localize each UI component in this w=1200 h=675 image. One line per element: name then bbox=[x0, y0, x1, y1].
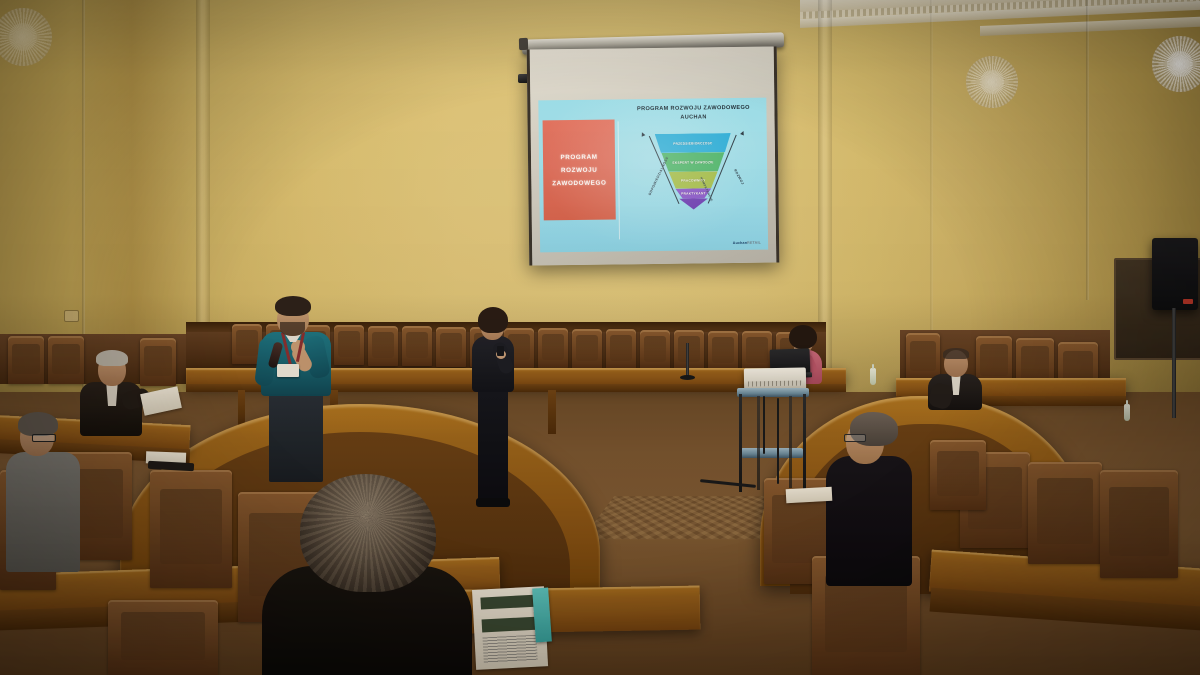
projected-slide: PROGRAM ROZWOJU ZAWODOWEGO PROGRAM ROZWO… bbox=[538, 98, 768, 253]
funnel-arrow-right-head bbox=[740, 130, 745, 135]
wall-seam bbox=[1086, 0, 1089, 300]
projection-screen: PROGRAM ROZWOJU ZAWODOWEGO PROGRAM ROZWO… bbox=[528, 36, 778, 271]
woman-standing-hair bbox=[478, 307, 508, 333]
projector-stand-leg bbox=[803, 394, 806, 490]
projector-stand-top-shelf bbox=[737, 388, 809, 397]
slide-title-line-1: PROGRAM ROZWOJU ZAWODOWEGO bbox=[622, 104, 764, 114]
person-left-front-torso bbox=[6, 452, 80, 572]
funnel-band-2: EKSPERT W ZAWODZIE bbox=[661, 152, 724, 172]
slide-red-panel: PROGRAM ROZWOJU ZAWODOWEGO bbox=[543, 119, 616, 220]
plaster-rosette-ornament bbox=[966, 56, 1018, 108]
water-bottle bbox=[870, 368, 876, 385]
projector-stand-leg bbox=[789, 396, 792, 488]
slide-red-line-3: ZAWODOWEGO bbox=[552, 179, 606, 187]
funnel-label-development: ROZWOJ bbox=[733, 168, 745, 185]
desk-microphone bbox=[686, 343, 689, 377]
presenter-badge bbox=[277, 364, 299, 377]
left-bench-chair bbox=[140, 338, 176, 386]
slide-title: PROGRAM ROZWOJU ZAWODOWEGO AUCHAN bbox=[622, 104, 764, 123]
conference-room-photo: PROGRAM ROZWOJU ZAWODOWEGO PROGRAM ROZWO… bbox=[0, 0, 1200, 675]
speaker-stand-pole bbox=[1172, 308, 1176, 418]
plaster-rosette-ornament bbox=[1152, 36, 1200, 92]
man-left-back-hair bbox=[96, 350, 128, 366]
person-left-front-hair bbox=[18, 412, 58, 436]
funnel-band-1: PRZEDSIEBIORCZOSC bbox=[655, 133, 731, 153]
person-center-front-hair-texture bbox=[300, 474, 436, 592]
pa-speaker bbox=[1152, 238, 1198, 310]
projector-stand-leg bbox=[757, 396, 760, 490]
woman-laptop-hair bbox=[789, 325, 817, 349]
woman-standing-phone bbox=[497, 346, 504, 356]
auchan-logo-sub: RETAIL bbox=[747, 241, 761, 245]
slide-title-line-2: AUCHAN bbox=[622, 112, 764, 122]
screen-surface: PROGRAM ROZWOJU ZAWODOWEGO PROGRAM ROZWO… bbox=[527, 46, 780, 265]
glasses-icon bbox=[32, 434, 56, 442]
screen-roller-cap bbox=[519, 38, 528, 50]
auchan-logo: AuchanRETAIL bbox=[733, 241, 761, 245]
desk-paper bbox=[786, 487, 833, 503]
slide-red-line-1: PROGRAM bbox=[560, 153, 597, 160]
wall-outlet bbox=[64, 310, 79, 322]
projector-stand-lower-shelf bbox=[741, 448, 803, 458]
projector-stand-leg bbox=[739, 394, 742, 492]
man-right-back-hair bbox=[943, 348, 969, 359]
auchan-logo-main: Auchan bbox=[733, 241, 747, 245]
slide-funnel-diagram: PRZEDSIEBIORCZOSC EKSPERT W ZAWODZIE PRA… bbox=[643, 129, 744, 212]
desk-microphone-base bbox=[680, 375, 695, 380]
right-bench-chair bbox=[906, 333, 940, 381]
woman-standing-shoes bbox=[476, 498, 510, 507]
person-right-front-torso bbox=[826, 456, 912, 586]
slide-divider bbox=[618, 121, 620, 239]
presenter-legs bbox=[269, 386, 323, 482]
funnel-tip bbox=[679, 198, 708, 209]
presenter-beard bbox=[280, 322, 305, 336]
presenter-hair bbox=[275, 296, 311, 316]
glasses-icon bbox=[844, 434, 866, 442]
projector-cable bbox=[777, 398, 779, 484]
projector-cable bbox=[763, 396, 765, 454]
water-bottle bbox=[1124, 404, 1130, 421]
woman-standing-legs bbox=[478, 384, 508, 502]
funnel-band-3: PRACOWNICY bbox=[669, 171, 718, 189]
left-bench-chair bbox=[48, 336, 84, 384]
wall-seam bbox=[930, 0, 933, 330]
slide-red-line-2: ROZWOJU bbox=[561, 166, 597, 173]
projector-stand bbox=[733, 388, 809, 488]
table-leg bbox=[548, 390, 556, 434]
left-bench-chair bbox=[8, 336, 44, 384]
handout-text-lines bbox=[483, 635, 538, 664]
funnel-arrow-left-head bbox=[640, 131, 645, 136]
